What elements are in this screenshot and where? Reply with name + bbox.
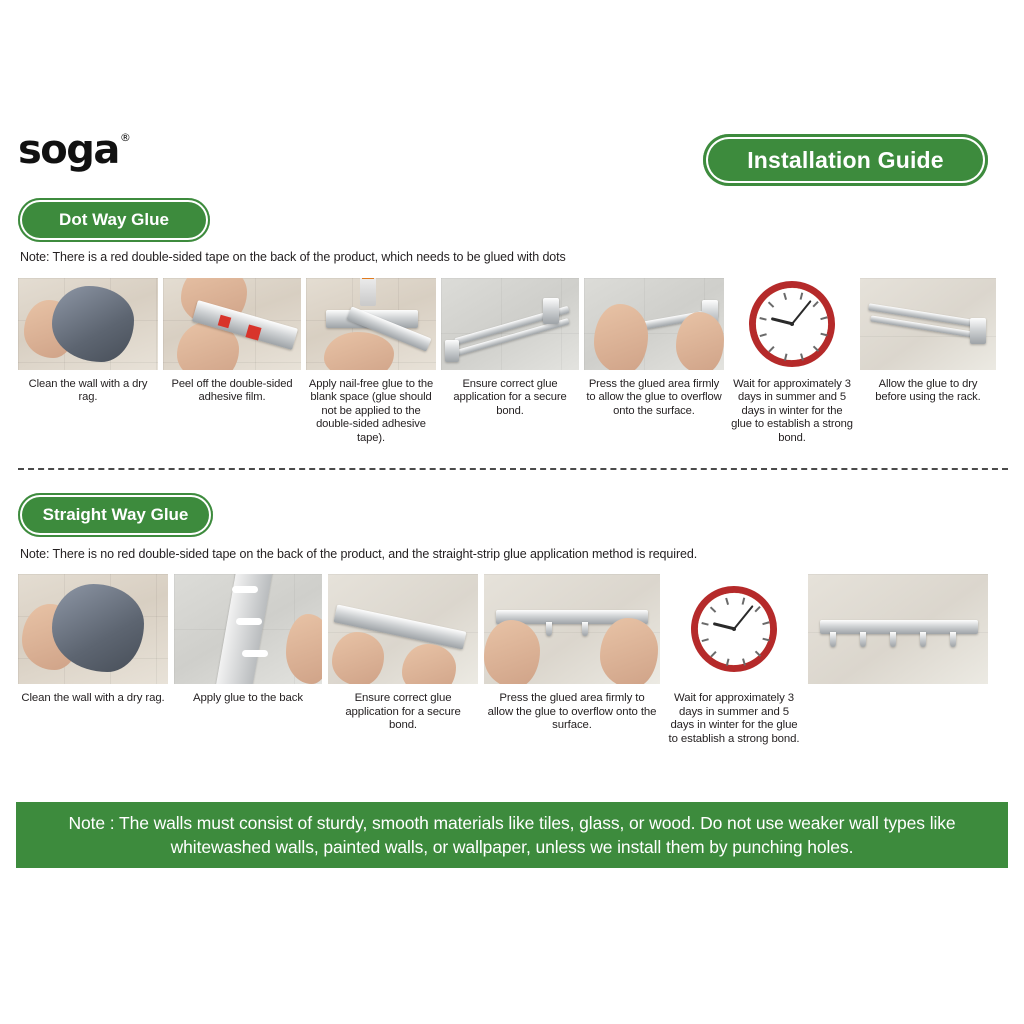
step-item: Press the glued area firmly to allow the… bbox=[484, 574, 660, 733]
installation-guide-page: soga® Installation Guide Dot Way Glue No… bbox=[0, 0, 1024, 1024]
rack-bracket bbox=[543, 298, 559, 324]
clock-pivot bbox=[732, 627, 737, 632]
step-caption: Wait for approximately 3 days in summer … bbox=[729, 378, 855, 445]
brand-logo: soga® bbox=[18, 128, 129, 172]
step-caption: Clean the wall with a dry rag. bbox=[19, 692, 166, 706]
registered-trademark-icon: ® bbox=[120, 132, 130, 143]
step-caption: Press the glued area firmly to allow the… bbox=[484, 692, 660, 733]
step-item: Clean the wall with a dry rag. bbox=[18, 574, 168, 706]
clock-tick bbox=[821, 333, 828, 336]
step-photo-installed-hook-rail bbox=[808, 574, 988, 684]
step-item: Wait for approximately 3 days in summer … bbox=[729, 278, 855, 445]
step-photo-glue-strip-on-rail-back bbox=[174, 574, 322, 684]
clock-tick bbox=[710, 607, 716, 613]
clock-minute-hand bbox=[733, 605, 753, 630]
step-photo-hands-peeling-adhesive-film bbox=[163, 278, 301, 370]
section-pill-dot-way-glue: Dot Way Glue bbox=[18, 198, 210, 242]
step-item: Press the glued area firmly to allow the… bbox=[584, 278, 724, 418]
clock-tick bbox=[762, 621, 769, 624]
step-photo-applying-glue-from-tube bbox=[306, 278, 436, 370]
hand-shape bbox=[676, 312, 724, 370]
step-caption: Ensure correct glue application for a se… bbox=[328, 692, 478, 733]
clock-tick bbox=[800, 293, 803, 300]
hook bbox=[890, 632, 896, 647]
glue-blob bbox=[242, 650, 268, 657]
clock-pivot bbox=[790, 322, 795, 327]
step-photo-hands-pressing-rail-to-wall bbox=[484, 574, 660, 684]
glue-blob bbox=[232, 586, 258, 593]
hook bbox=[830, 632, 836, 647]
step-item: Apply glue to the back bbox=[174, 574, 322, 706]
clock-tick bbox=[711, 651, 717, 657]
glue-tube bbox=[360, 278, 376, 306]
step-item: Ensure correct glue application for a se… bbox=[328, 574, 478, 733]
hand-shape bbox=[332, 632, 384, 684]
step-caption: Wait for approximately 3 days in summer … bbox=[666, 692, 802, 746]
hook bbox=[860, 632, 866, 647]
step-caption: Press the glued area firmly to allow the… bbox=[584, 378, 724, 418]
step-caption: Peel off the double-sided adhesive film. bbox=[163, 378, 301, 405]
clock-tick bbox=[702, 639, 709, 642]
clock-minute-hand bbox=[791, 300, 811, 325]
section-divider bbox=[18, 468, 1008, 470]
step-photo-hands-pressing-rack-to-wall bbox=[584, 278, 724, 370]
brand-logo-text: soga bbox=[18, 128, 119, 172]
clock-tick bbox=[725, 598, 728, 605]
rack-bracket bbox=[445, 340, 459, 362]
glue-blob bbox=[236, 618, 262, 625]
clock-icon bbox=[681, 576, 787, 682]
page-header: soga® Installation Guide bbox=[0, 128, 1024, 198]
clock-tick bbox=[754, 606, 760, 612]
clock-tick bbox=[769, 346, 775, 352]
step-item bbox=[808, 574, 988, 692]
step-photo-hand-wiping-wall-with-rag bbox=[18, 574, 168, 684]
hand-shape bbox=[324, 332, 394, 370]
hand-shape bbox=[402, 644, 456, 684]
step-photo-clock-icon bbox=[666, 574, 802, 684]
hook bbox=[582, 622, 588, 636]
clock-tick bbox=[768, 302, 774, 308]
step-item: Allow the glue to dry before using the r… bbox=[860, 278, 996, 405]
hand-shape bbox=[594, 304, 648, 370]
clock-tick bbox=[763, 638, 770, 641]
clock-tick bbox=[755, 651, 761, 657]
step-caption: Clean the wall with a dry rag. bbox=[18, 378, 158, 405]
step-photo-hand-wiping-wall-with-rag bbox=[18, 278, 158, 370]
step-item: Peel off the double-sided adhesive film. bbox=[163, 278, 301, 405]
step-photo-installed-towel-rack bbox=[860, 278, 996, 370]
step-caption: Apply nail-free glue to the blank space … bbox=[306, 378, 436, 445]
step-photo-towel-rack-against-wall bbox=[441, 278, 579, 370]
hook bbox=[546, 622, 552, 636]
section-pill-straight-way-glue: Straight Way Glue bbox=[18, 493, 213, 537]
hand-shape bbox=[484, 620, 540, 684]
clock-tick bbox=[783, 293, 786, 300]
clock-icon bbox=[739, 278, 845, 370]
step-item: Apply nail-free glue to the blank space … bbox=[306, 278, 436, 445]
hook bbox=[950, 632, 956, 647]
hook bbox=[920, 632, 926, 647]
step-caption: Allow the glue to dry before using the r… bbox=[860, 378, 996, 405]
tube-cap bbox=[362, 278, 374, 279]
clock-tick bbox=[760, 334, 767, 337]
clock-tick bbox=[812, 301, 818, 307]
steps-strip-dot-way-glue: Clean the wall with a dry rag. Peel off … bbox=[18, 278, 1008, 445]
step-photo-clock-icon bbox=[729, 278, 855, 370]
step-photo-hands-holding-hook-rail bbox=[328, 574, 478, 684]
rack-bracket bbox=[970, 318, 986, 344]
clock-tick bbox=[784, 354, 787, 361]
hand-shape bbox=[600, 618, 658, 684]
steps-strip-straight-way-glue: Clean the wall with a dry rag. Apply glu… bbox=[18, 574, 1008, 746]
step-caption: Ensure correct glue application for a se… bbox=[441, 378, 579, 418]
clock-tick bbox=[759, 317, 766, 320]
clock-tick bbox=[726, 659, 729, 666]
step-item: Ensure correct glue application for a se… bbox=[441, 278, 579, 418]
clock-tick bbox=[742, 598, 745, 605]
clock-tick bbox=[820, 316, 827, 319]
section-note-dot-way-glue: Note: There is a red double-sided tape o… bbox=[20, 250, 566, 264]
step-caption: Apply glue to the back bbox=[191, 692, 305, 706]
section-note-straight-way-glue: Note: There is no red double-sided tape … bbox=[20, 547, 697, 561]
bottom-warning-note: Note : The walls must consist of sturdy,… bbox=[16, 802, 1008, 868]
clock-tick bbox=[701, 622, 708, 625]
installation-guide-badge: Installation Guide bbox=[703, 134, 988, 186]
step-item: Clean the wall with a dry rag. bbox=[18, 278, 158, 405]
step-item: Wait for approximately 3 days in summer … bbox=[666, 574, 802, 746]
clock-tick bbox=[813, 346, 819, 352]
